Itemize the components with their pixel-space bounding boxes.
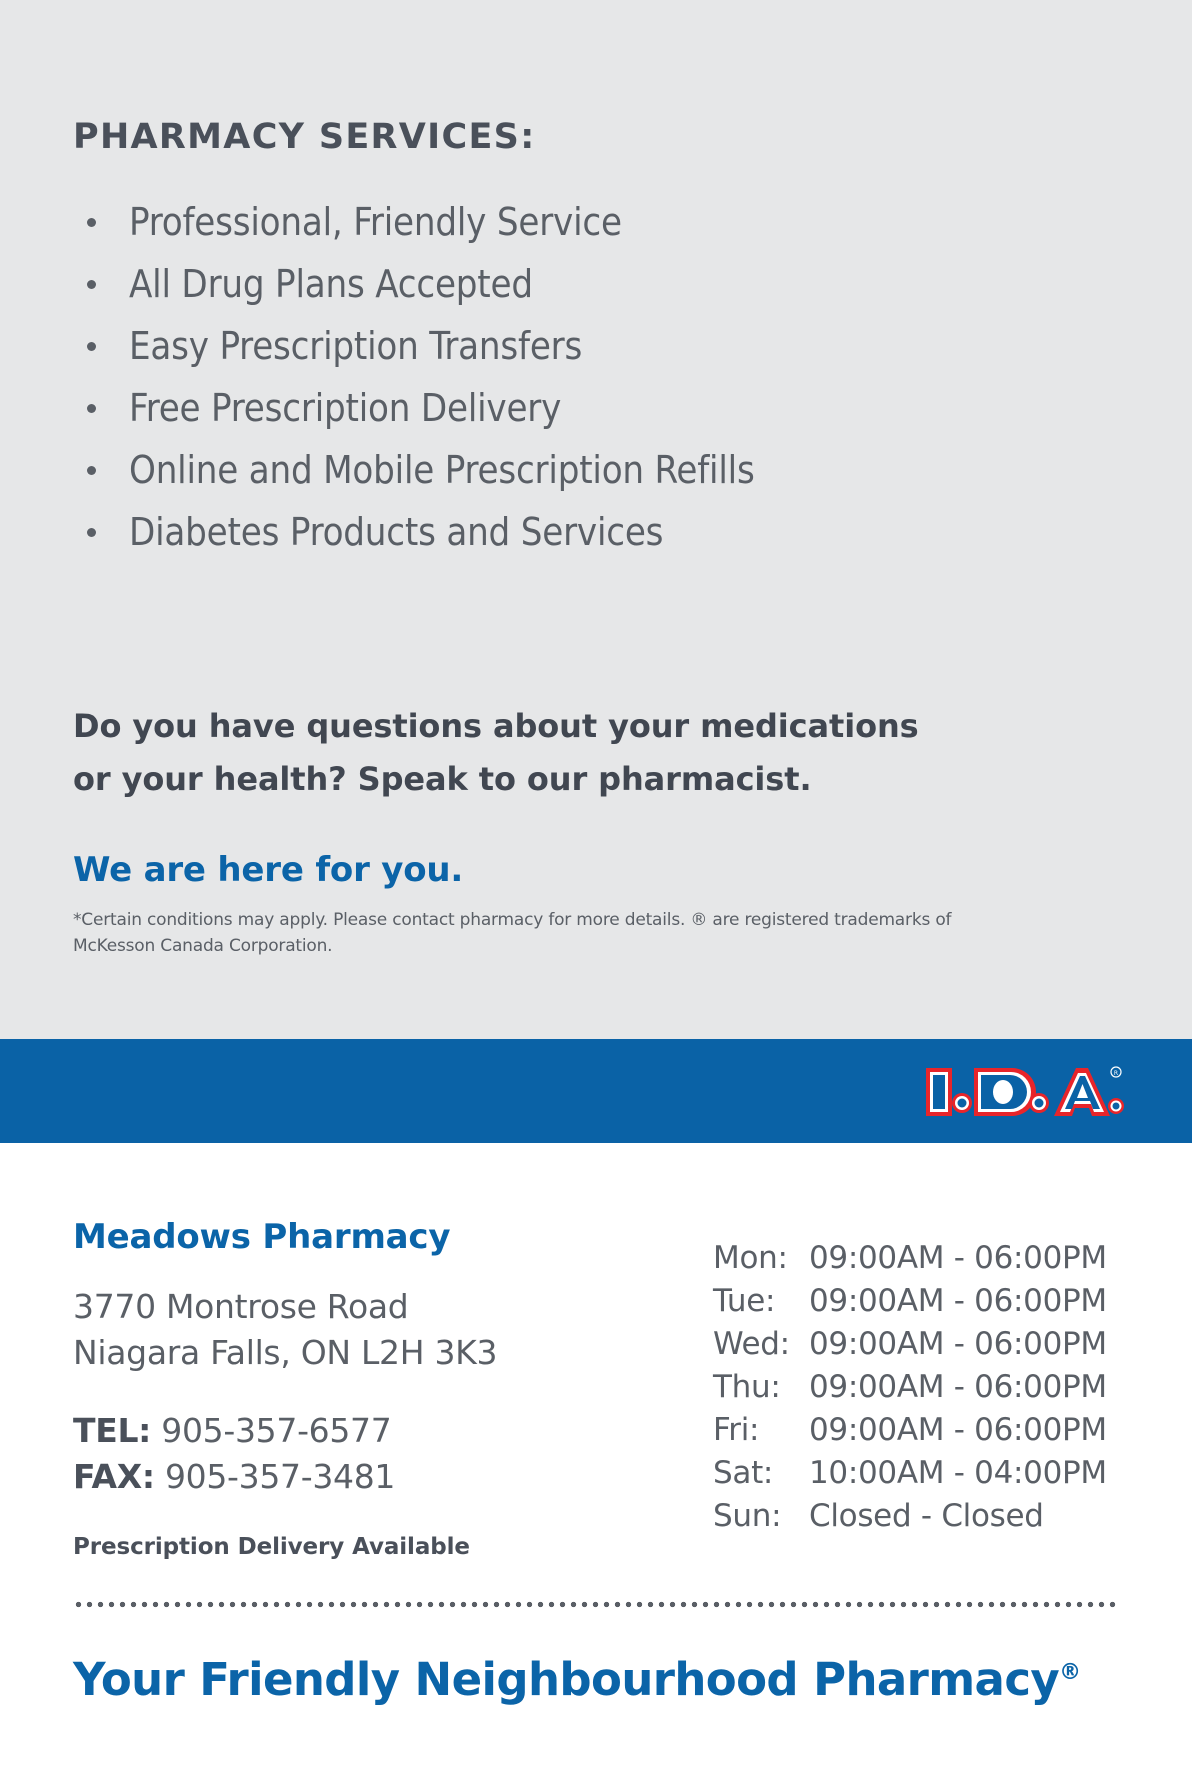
hours-time: 09:00AM - 06:00PM [809,1323,1119,1366]
page-title: PHARMACY SERVICES: [73,118,1192,157]
hours-time: 09:00AM - 06:00PM [809,1366,1119,1409]
bullet-icon [87,342,96,351]
svg-text:R: R [1114,1070,1118,1077]
list-item: Diabetes Products and Services [73,501,1192,563]
table-row: Mon: 09:00AM - 06:00PM [713,1237,1119,1280]
hours-time: Closed - Closed [809,1495,1119,1538]
legal-fineprint: *Certain conditions may apply. Please co… [73,907,953,959]
service-label: Easy Prescription Transfers [129,324,582,368]
fax-label: FAX: [73,1457,155,1496]
list-item: All Drug Plans Accepted [73,253,1192,315]
service-label: Free Prescription Delivery [129,386,561,430]
dotted-divider [73,1601,1119,1608]
services-list: Professional, Friendly Service All Drug … [73,191,1192,563]
registered-mark-icon: ® [1059,1660,1080,1685]
store-hours-column: Mon: 09:00AM - 06:00PM Tue: 09:00AM - 06… [713,1219,1119,1538]
hours-time: 09:00AM - 06:00PM [809,1409,1119,1452]
table-row: Thu: 09:00AM - 06:00PM [713,1366,1119,1409]
table-row: Wed: 09:00AM - 06:00PM [713,1323,1119,1366]
hours-time: 09:00AM - 06:00PM [809,1237,1119,1280]
telephone-label: TEL: [73,1411,151,1450]
table-row: Fri: 09:00AM - 06:00PM [713,1409,1119,1452]
pharmacy-services-panel: PHARMACY SERVICES: Professional, Friendl… [0,0,1192,1039]
bullet-icon [87,466,96,475]
footer-tagline: Your Friendly Neighbourhood Pharmacy® [73,1655,1081,1705]
list-item: Free Prescription Delivery [73,377,1192,439]
telephone-row: TEL: 905-357-6577 [73,1408,713,1454]
service-label: Online and Mobile Prescription Refills [129,448,755,492]
address-line-2: Niagara Falls, ON L2H 3K3 [73,1330,713,1376]
bullet-icon [87,280,96,289]
hours-day: Fri: [713,1409,809,1452]
service-label: Professional, Friendly Service [129,200,622,244]
hours-day: Thu: [713,1366,809,1409]
ida-logo: R [924,1060,1124,1122]
telephone-value[interactable]: 905-357-6577 [161,1411,391,1450]
fax-value: 905-357-3481 [165,1457,395,1496]
service-label: All Drug Plans Accepted [129,262,533,306]
brand-band: R [0,1039,1192,1143]
contact-group: TEL: 905-357-6577 FAX: 905-357-3481 [73,1408,713,1500]
hours-day: Tue: [713,1280,809,1323]
table-row: Tue: 09:00AM - 06:00PM [713,1280,1119,1323]
address-line-1: 3770 Montrose Road [73,1284,713,1330]
hours-day: Wed: [713,1323,809,1366]
list-item: Easy Prescription Transfers [73,315,1192,377]
list-item: Professional, Friendly Service [73,191,1192,253]
pharmacist-question: Do you have questions about your medicat… [73,700,983,806]
bullet-icon [87,528,96,537]
question-line-2: or your health? Speak to our pharmacist. [73,753,983,806]
store-contact-column: Meadows Pharmacy 3770 Montrose Road Niag… [73,1219,713,1560]
hours-day: Mon: [713,1237,809,1280]
table-row: Sat: 10:00AM - 04:00PM [713,1452,1119,1495]
store-name: Meadows Pharmacy [73,1219,713,1256]
service-label: Diabetes Products and Services [129,510,663,554]
hours-time: 10:00AM - 04:00PM [809,1452,1119,1495]
fax-row: FAX: 905-357-3481 [73,1454,713,1500]
list-item: Online and Mobile Prescription Refills [73,439,1192,501]
hours-time: 09:00AM - 06:00PM [809,1280,1119,1323]
callout-here-for-you: We are here for you. [73,852,1192,889]
bullet-icon [87,218,96,227]
question-line-1: Do you have questions about your medicat… [73,700,983,753]
footer-tagline-text: Your Friendly Neighbourhood Pharmacy [73,1653,1059,1706]
hours-day: Sun: [713,1495,809,1538]
hours-day: Sat: [713,1452,809,1495]
delivery-note: Prescription Delivery Available [73,1534,713,1560]
hours-table: Mon: 09:00AM - 06:00PM Tue: 09:00AM - 06… [713,1237,1119,1538]
bullet-icon [87,404,96,413]
table-row: Sun: Closed - Closed [713,1495,1119,1538]
